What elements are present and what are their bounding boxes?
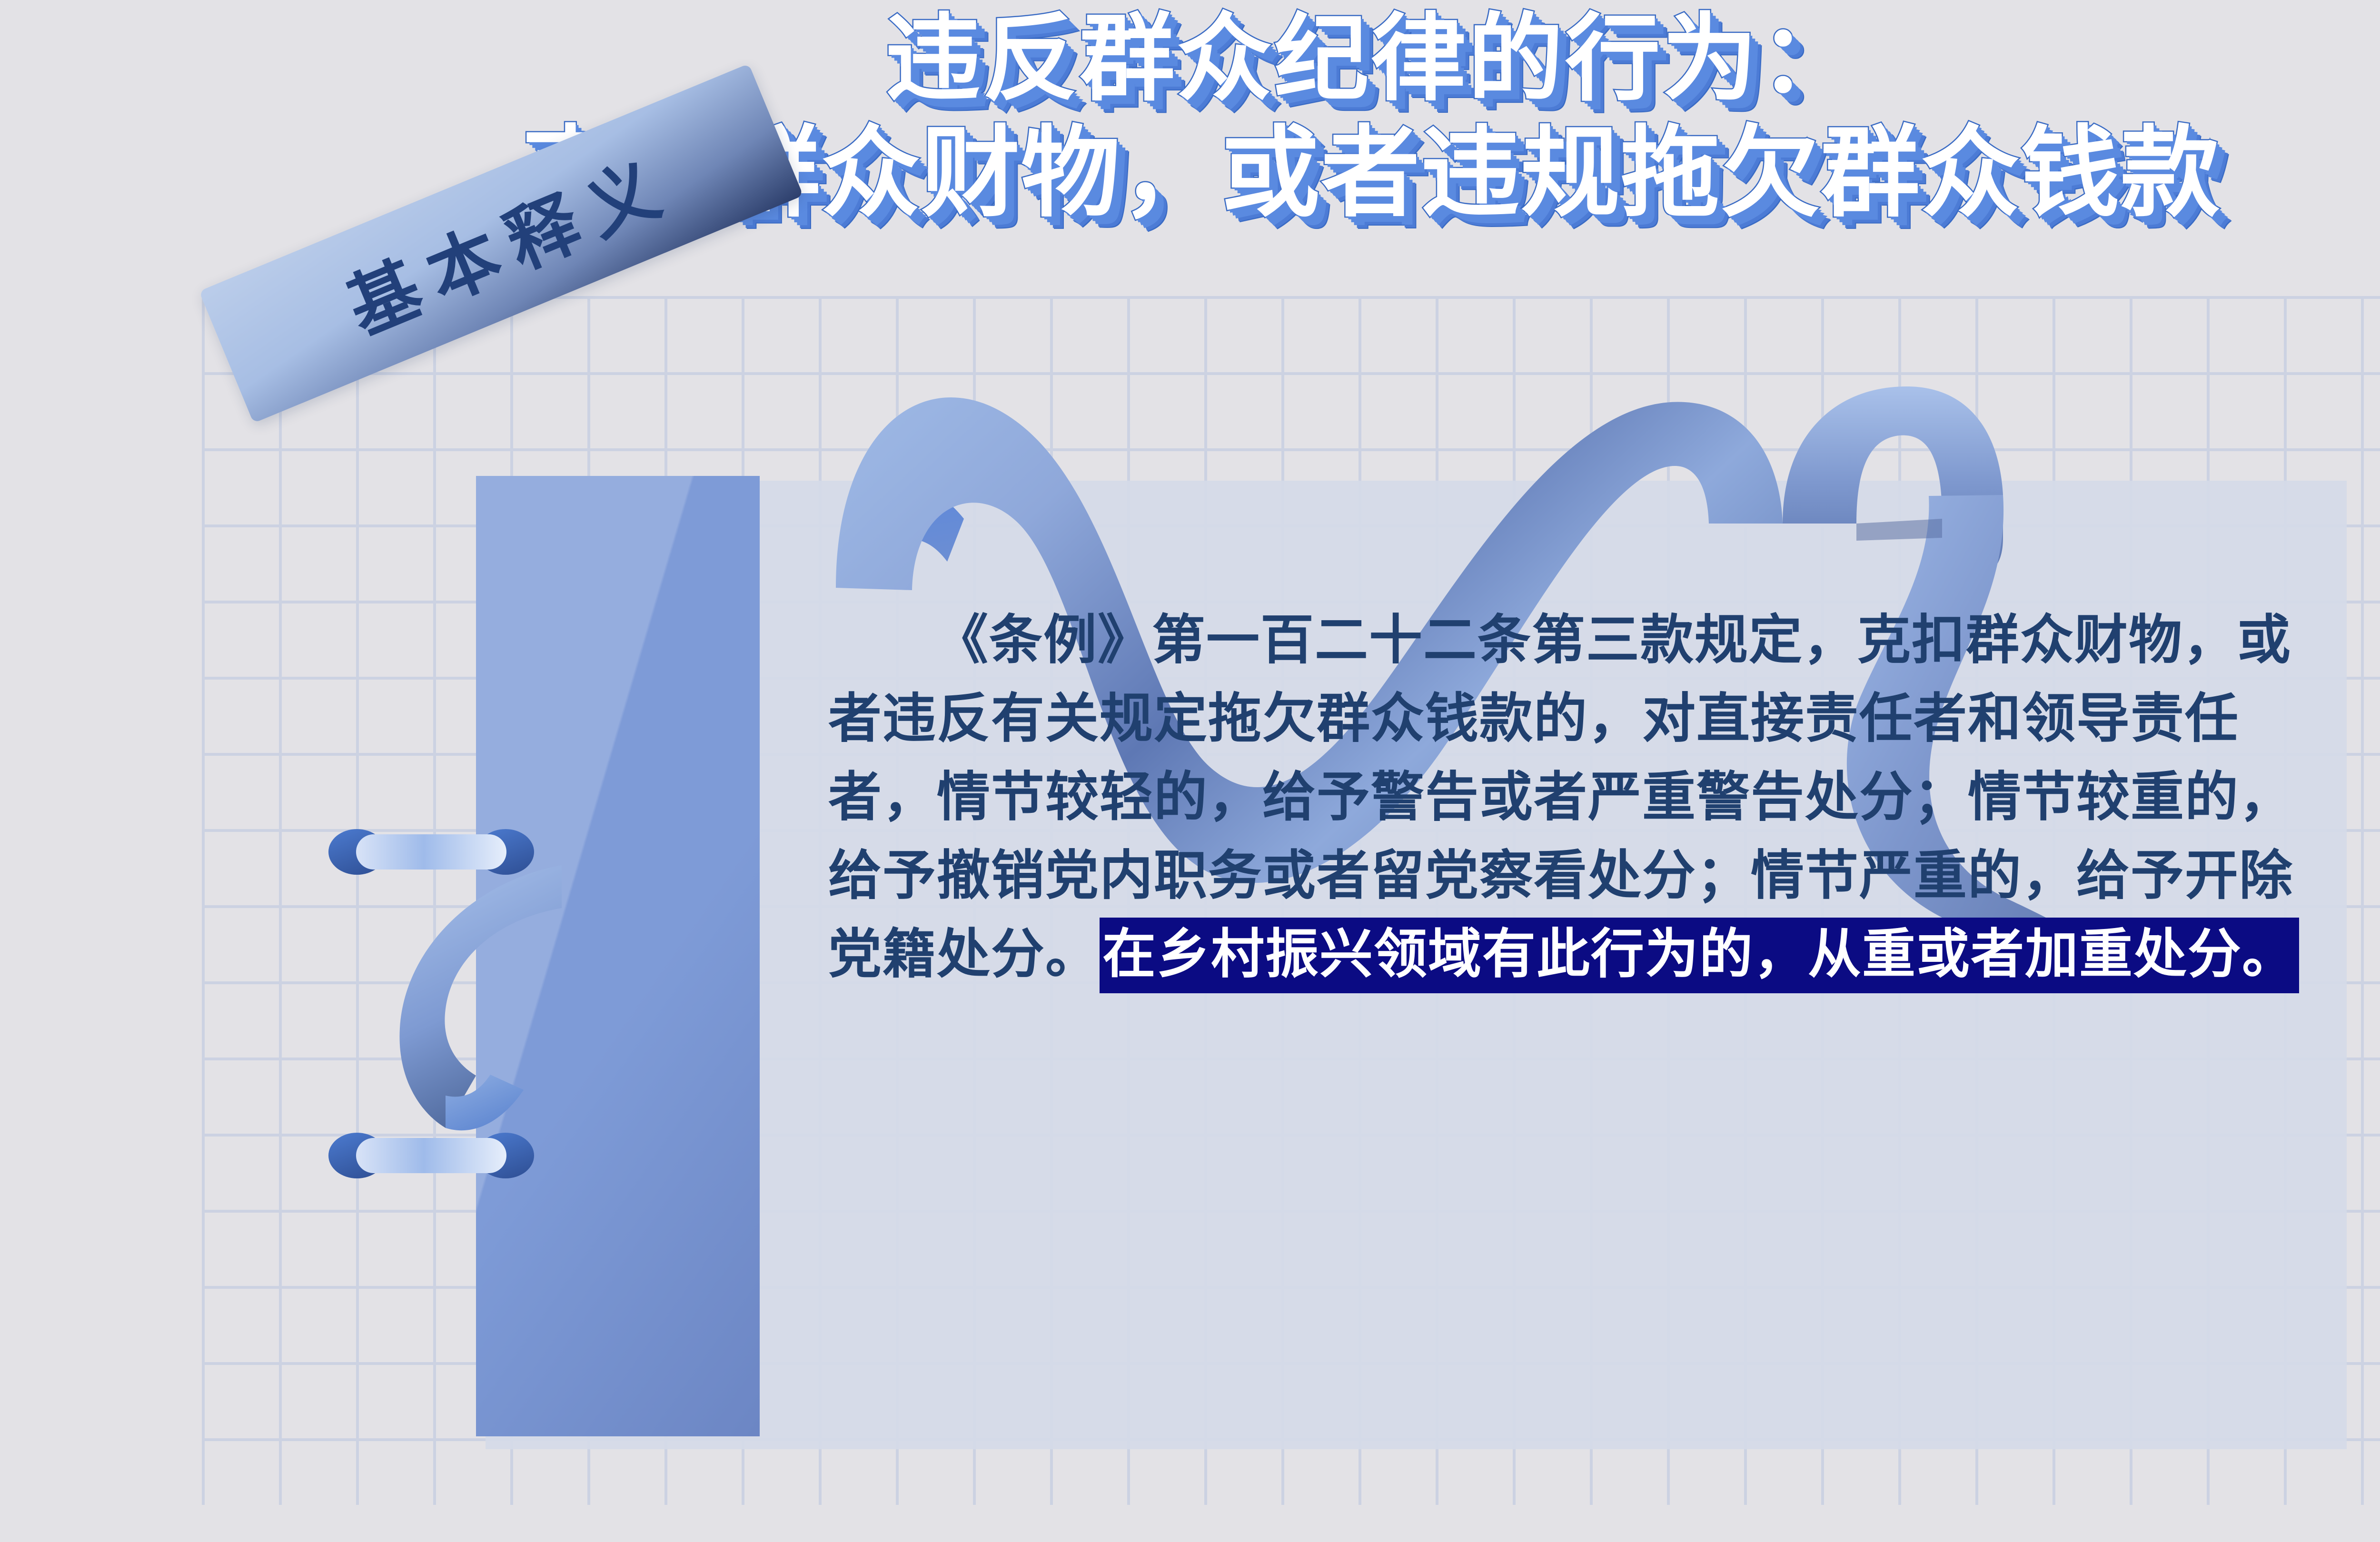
section-number-block — [476, 476, 760, 1436]
page-title: 违反群众纪律的行为： 克扣群众财物，或者违规拖欠群众钱款 — [0, 0, 2380, 232]
headline-line-2: 克扣群众财物，或者违规拖欠群众钱款 — [0, 115, 2380, 232]
headline-line-1: 违反群众纪律的行为： — [0, 3, 2380, 115]
body-paragraph: 《条例》第一百二十二条第三款规定，克扣群众财物，或者违反有关规定拖欠群众钱款的，… — [828, 601, 2309, 993]
section-number-shade — [476, 476, 760, 1436]
paragraph-highlighted-text: 在乡村振兴领域有此行为的，从重或者加重处分。 — [1100, 918, 2299, 993]
binder-ring-bottom — [328, 1133, 534, 1178]
ring-bar — [356, 834, 506, 870]
binder-ring-top — [328, 829, 534, 875]
ring-bar — [356, 1138, 506, 1173]
poster-stage: 违反群众纪律的行为： 克扣群众财物，或者违规拖欠群众钱款 — [0, 0, 2380, 1542]
